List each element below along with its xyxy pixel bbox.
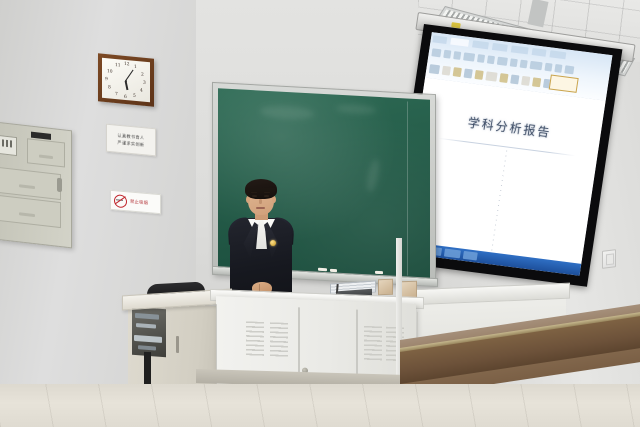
chalk-piece — [375, 271, 383, 274]
motto-line-2: 严谨求实创新 — [118, 139, 145, 148]
chalk-piece — [330, 269, 337, 272]
clock-hour-number: 8 — [108, 85, 111, 90]
vent-louver — [270, 322, 288, 357]
eye-left — [252, 195, 257, 197]
panel-door-section[interactable] — [0, 195, 61, 229]
lapel-badge-pin — [270, 240, 276, 246]
clock-hour-number: 4 — [140, 88, 143, 93]
clock-hour-number: 11 — [115, 63, 121, 69]
wall-clock: 12 1 2 3 4 5 6 7 8 9 10 11 — [98, 53, 154, 106]
panel-latch-handle[interactable] — [57, 178, 62, 193]
vent-louver — [364, 326, 382, 361]
panel-door-section[interactable] — [27, 138, 65, 167]
clock-hour-number: 12 — [124, 62, 130, 68]
desk-equipment-compartment[interactable] — [132, 307, 166, 357]
eye-right — [264, 195, 269, 197]
clock-hour-number: 9 — [105, 77, 108, 82]
clock-hour-number: 6 — [124, 95, 127, 100]
presenter — [228, 178, 294, 304]
clock-hour-number: 2 — [141, 72, 144, 77]
electrical-panel-cabinet[interactable] — [0, 122, 72, 249]
slide-title: 学科分析报告 — [418, 107, 601, 147]
clock-hour-number: 7 — [115, 92, 118, 97]
clock-center-pin — [125, 80, 127, 82]
classroom-photo: 学科分析报告 汇报人：XXX 学科组 汇报单位：XXX 大学理工学院 — [0, 0, 640, 427]
clock-hour-number: 10 — [107, 69, 113, 75]
clock-hour-number: 1 — [134, 65, 137, 70]
clock-face: 12 1 2 3 4 5 6 7 8 9 10 11 — [102, 58, 150, 103]
desk-door-handle[interactable] — [176, 336, 179, 353]
clock-hour-number: 3 — [143, 81, 146, 86]
no-smoking-label: 禁止吸烟 — [130, 199, 148, 207]
slide-center-guide — [490, 150, 507, 259]
desk-box — [378, 279, 393, 296]
clock-hour-hand — [125, 81, 128, 90]
light-switch[interactable] — [602, 249, 616, 269]
vent-louver — [246, 321, 264, 356]
chalk-piece — [318, 268, 327, 271]
no-smoking-icon — [114, 194, 127, 208]
panel-door-section[interactable] — [0, 167, 61, 201]
nose — [259, 199, 262, 204]
floor-tile-lines — [0, 384, 640, 427]
clock-hour-number: 5 — [133, 94, 136, 99]
hair — [245, 179, 277, 199]
chalkboard-panel-seam — [407, 101, 408, 275]
classroom-motto-sign: 认真教书育人 严谨求实创新 — [106, 124, 156, 157]
mouth — [256, 207, 265, 209]
panel-meter-display — [0, 135, 17, 156]
tiled-floor — [0, 384, 640, 427]
